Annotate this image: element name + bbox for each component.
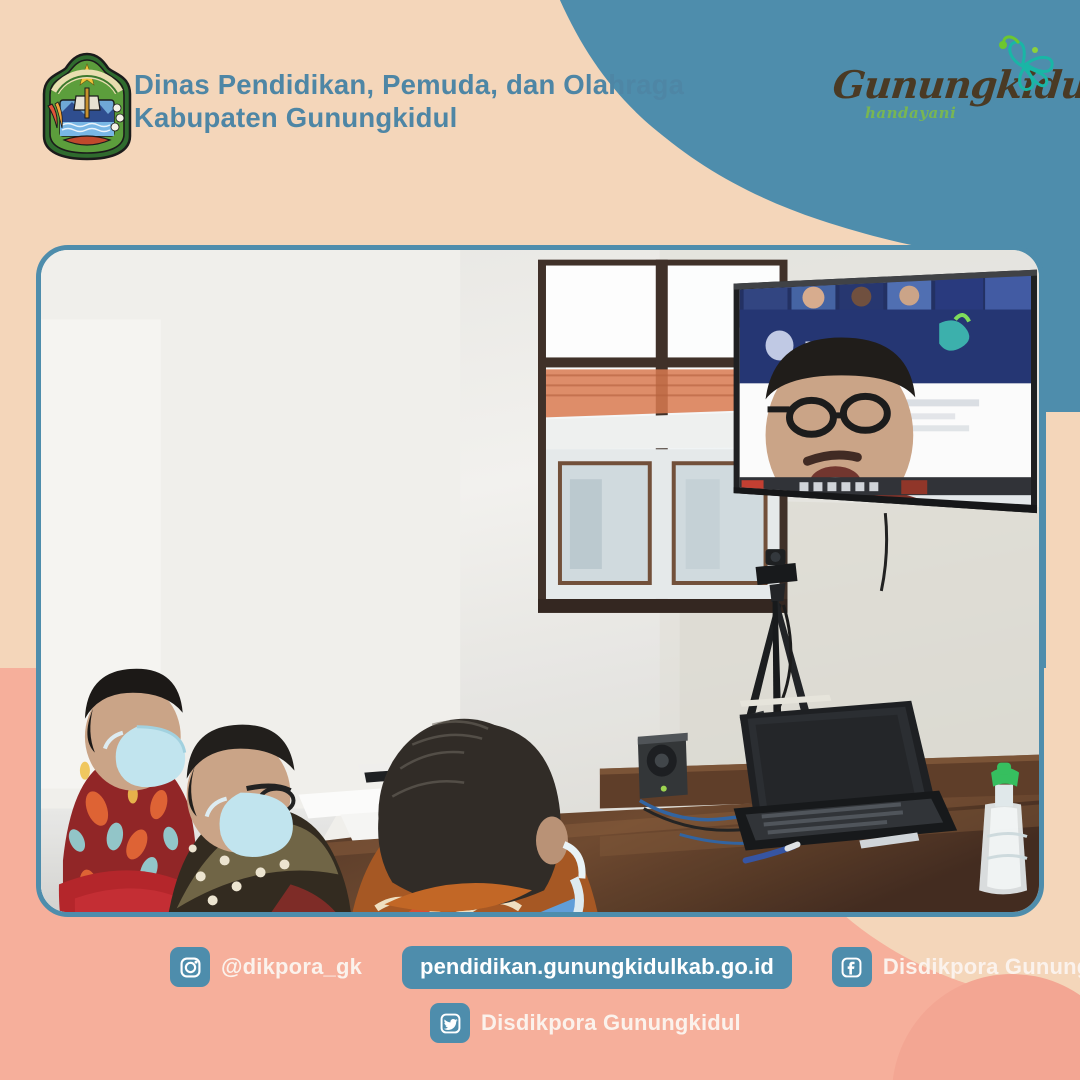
footer-row-primary: @dikpora_gk pendidikan.gunungkidulkab.go… <box>170 940 1080 994</box>
poster-header: Dinas Pendidikan, Pemuda, dan Olahraga K… <box>0 0 760 200</box>
page-title: Dinas Pendidikan, Pemuda, dan Olahraga K… <box>134 68 734 134</box>
twitter-icon[interactable] <box>430 1003 470 1043</box>
butterfly-flourish-icon <box>992 32 1062 94</box>
regency-brand: Gunungkidul handayani <box>823 46 1058 134</box>
instagram-handle[interactable]: @dikpora_gk <box>221 954 362 980</box>
footer-row-secondary: Disdikpora Gunungkidul <box>430 996 741 1050</box>
facebook-page-name[interactable]: Disdikpora Gunungkidul <box>883 954 1080 980</box>
photo-illustration <box>41 250 1039 912</box>
facebook-icon[interactable] <box>832 947 872 987</box>
gunungkidul-regency-crest-icon <box>38 52 136 162</box>
meeting-photo <box>36 245 1044 917</box>
poster-footer: @dikpora_gk pendidikan.gunungkidulkab.go… <box>0 940 1080 1080</box>
instagram-icon[interactable] <box>170 947 210 987</box>
title-line-2: Kabupaten Gunungkidul <box>134 101 734 134</box>
brand-tagline: handayani <box>865 104 956 122</box>
twitter-account-name[interactable]: Disdikpora Gunungkidul <box>481 1010 741 1036</box>
poster-canvas: Dinas Pendidikan, Pemuda, dan Olahraga K… <box>0 0 1080 1080</box>
website-url[interactable]: pendidikan.gunungkidulkab.go.id <box>402 946 792 989</box>
title-line-1: Dinas Pendidikan, Pemuda, dan Olahraga <box>134 68 734 101</box>
